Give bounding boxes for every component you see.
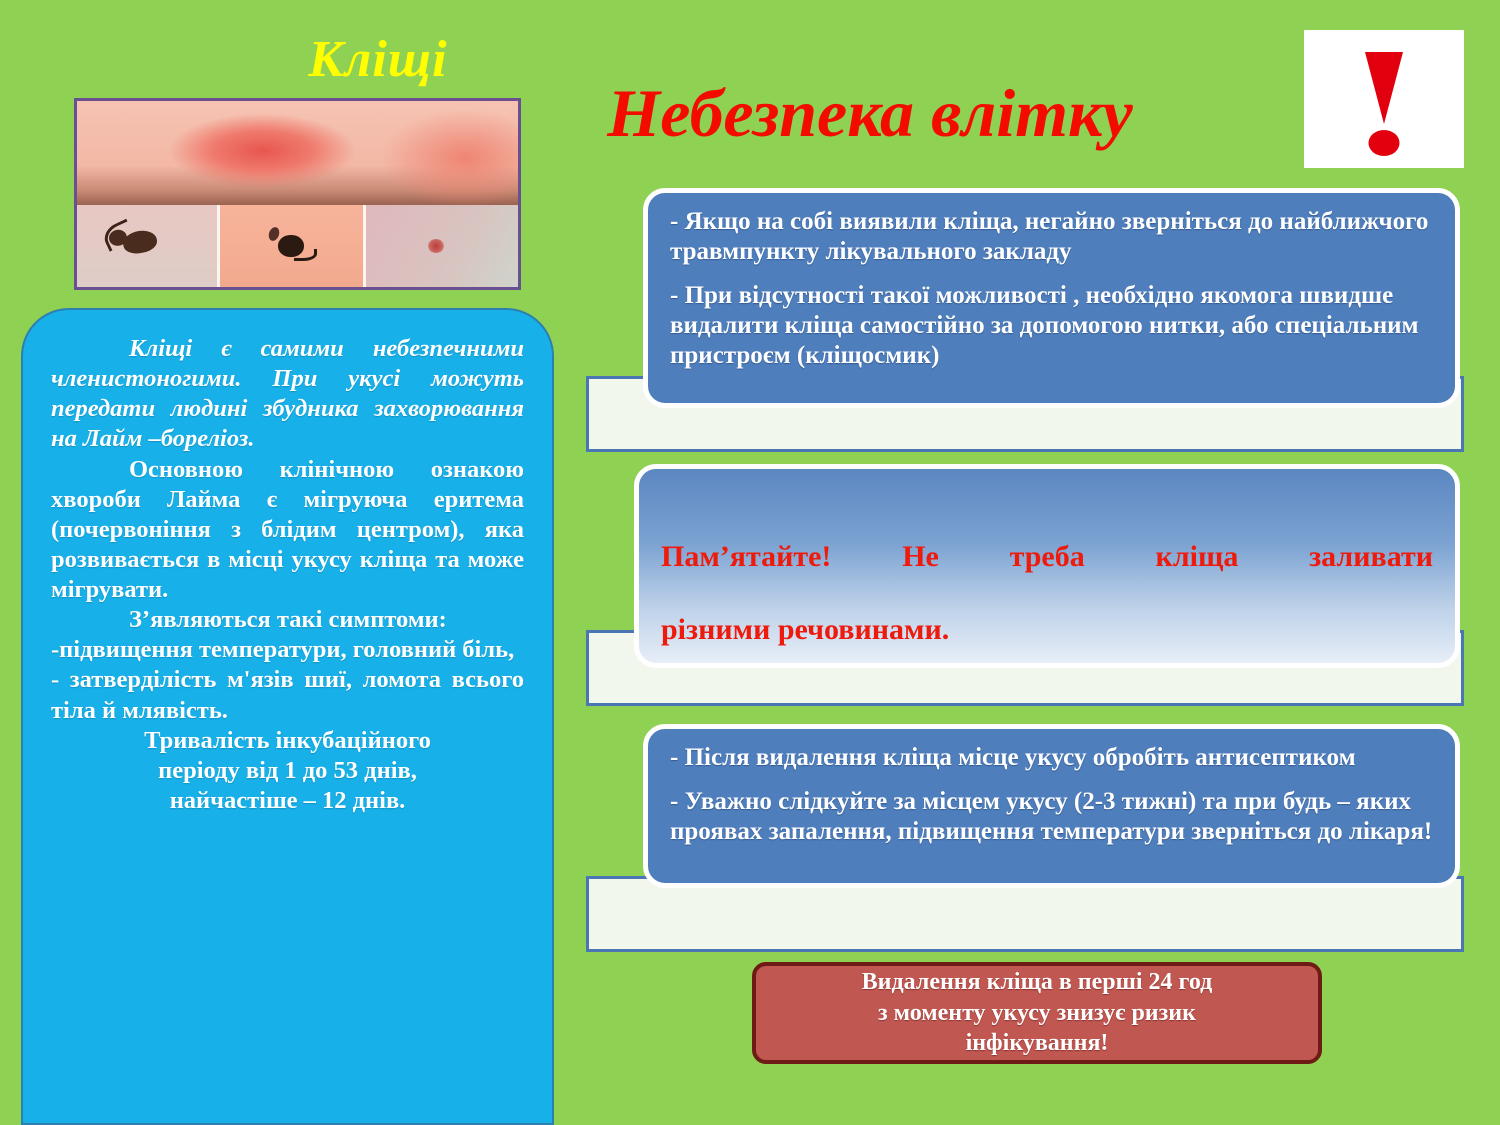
bite-mark-photo <box>366 205 518 290</box>
tick-embedded-icon <box>278 235 304 257</box>
exclamation-bar-icon <box>1365 52 1403 124</box>
advice-card-3-line-1: - Після видалення кліща місце укусу обро… <box>670 743 1433 773</box>
advice-card-1: - Якщо на собі виявили кліща, негайно зв… <box>643 188 1460 408</box>
left-paragraph-3: З’являються такі симптоми: <box>51 605 524 635</box>
page-title-ticks: Кліщі <box>188 33 568 88</box>
remember-line-1: Пам’ятайте! Не треба кліща заливати <box>661 539 1433 612</box>
remember-text: Пам’ятайте! Не треба кліща заливати різн… <box>661 539 1433 649</box>
left-paragraph-2: Основною клінічною ознакою хвороби Лайма… <box>51 455 524 606</box>
remember-card: Пам’ятайте! Не треба кліща заливати різн… <box>634 464 1460 668</box>
urgency-callout-text: Видалення кліща в перші 24 год з моменту… <box>862 967 1213 1059</box>
rash-photo <box>77 101 518 205</box>
advice-card-3-line-2: - Уважно слідкуйте за місцем укусу (2-3 … <box>670 787 1433 847</box>
left-closing-line-3: найчастіше – 12 днів. <box>51 786 524 816</box>
left-paragraph-5: - затверділість м'язів шиї, ломота всьог… <box>51 665 524 725</box>
left-closing-line-2: періоду від 1 до 53 днів, <box>51 756 524 786</box>
left-closing-line-1: Тривалість інкубаційного <box>51 726 524 756</box>
urgency-callout-box: Видалення кліща в перші 24 год з моменту… <box>752 962 1322 1064</box>
bite-mark-icon <box>428 239 444 253</box>
urgency-line-3: інфікування! <box>966 1030 1109 1056</box>
tick-on-skin-photo <box>77 205 217 290</box>
remember-line-2: різними речовинами. <box>661 613 949 646</box>
advice-card-1-line-2: - При відсутності такої можливості , нео… <box>670 281 1433 371</box>
exclamation-dot-icon <box>1369 130 1400 156</box>
urgency-line-1: Видалення кліща в перші 24 год <box>862 969 1213 995</box>
left-info-panel: Кліщі є самими небезпечними членистоноги… <box>21 308 554 1125</box>
exclamation-mark-icon <box>1304 30 1464 168</box>
poster-canvas: Кліщі Небезпека влітку Кліщі є самими не… <box>0 0 1500 1125</box>
left-paragraph-1: Кліщі є самими небезпечними членистоноги… <box>51 334 524 455</box>
collage-bottom-row <box>77 205 518 290</box>
page-title-main: Небезпека влітку <box>520 78 1220 149</box>
advice-card-3: - Після видалення кліща місце укусу обро… <box>643 724 1460 888</box>
advice-card-1-line-1: - Якщо на собі виявили кліща, негайно зв… <box>670 207 1433 267</box>
left-paragraph-4: -підвищення температури, головний біль, <box>51 635 524 665</box>
embedded-tick-photo <box>217 205 366 290</box>
urgency-line-2: з моменту укусу знизує ризик <box>878 1000 1196 1026</box>
tick-icon <box>121 228 158 256</box>
tick-bite-photo-collage <box>74 98 521 290</box>
